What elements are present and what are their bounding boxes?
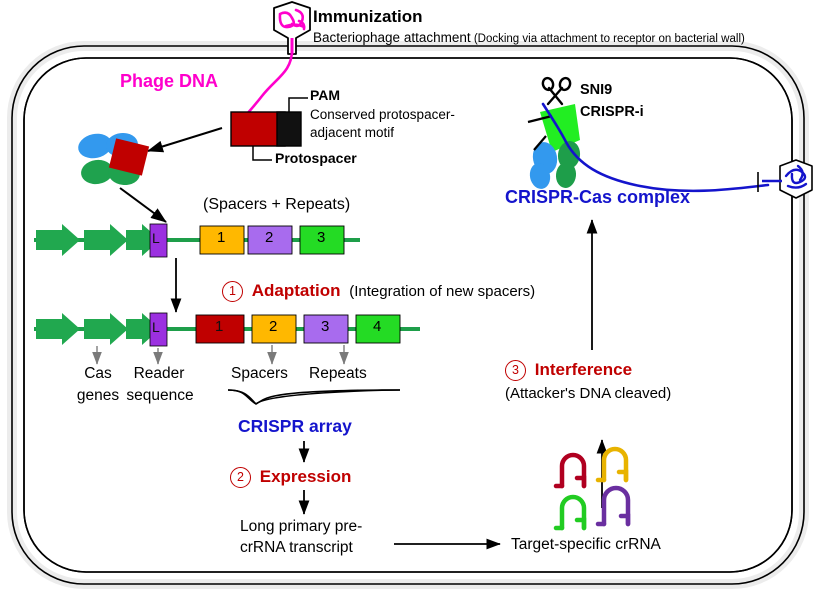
step-1-number: 1 <box>222 281 243 302</box>
step-2-name: Expression <box>260 467 352 486</box>
spacer-label-1-after: 1 <box>215 319 223 336</box>
phage-dna-label: Phage DNA <box>120 71 218 91</box>
crispr-array-after <box>34 313 420 346</box>
spacer-label-3-after: 3 <box>321 319 329 336</box>
arrow-to-cas-complex <box>148 128 222 151</box>
step-1: 1 Adaptation (Integration of new spacers… <box>222 281 535 302</box>
spacer-label-2-before: 2 <box>265 230 273 247</box>
arrow-to-crispr-array <box>120 188 166 222</box>
immunization-subtitle-main: Bacteriophage attachment <box>313 30 471 45</box>
crispr-i-label: CRISPR-i <box>580 104 644 120</box>
reader-label-line1: Reader <box>127 365 191 382</box>
crispr-array-label: CRISPR array <box>238 417 352 437</box>
step-2-number: 2 <box>230 467 251 488</box>
pre-crrna-line2: crRNA transcript <box>240 539 353 556</box>
sni9-label: SNI9 <box>580 82 612 98</box>
cas-genes-label-line1: Cas <box>72 365 124 382</box>
spacer-label-2-after: 2 <box>269 319 277 336</box>
diagram-canvas: Immunization Bacteriophage attachment (D… <box>0 0 816 596</box>
spacer-label-4-after: 4 <box>373 319 381 336</box>
scissors-icon <box>541 77 572 104</box>
immunization-subtitle: Bacteriophage attachment (Docking via at… <box>313 30 745 46</box>
pam-segment <box>277 112 301 146</box>
pre-crrna-line1: Long primary pre- <box>240 518 362 535</box>
crrna-hairpin-green <box>556 497 584 528</box>
immunization-subtitle-paren: (Docking via attachment to receptor on b… <box>474 33 745 45</box>
bacteriophage-icon-right <box>758 160 812 198</box>
spacer-label-1-before: 1 <box>217 230 225 247</box>
target-crrna-label: Target-specific crRNA <box>511 536 661 553</box>
spacers-label: Spacers <box>231 365 288 382</box>
step-1-detail: (Integration of new spacers) <box>349 283 535 300</box>
crrna-hairpins <box>556 449 628 528</box>
immunization-title: Immunization <box>313 7 423 26</box>
repeats-label: Repeats <box>309 365 367 382</box>
crispr-array-before <box>34 224 360 257</box>
array-callout-arrows <box>97 345 344 364</box>
crispr-cas-complex-label: CRISPR-Cas complex <box>505 187 690 207</box>
step-3-name: Interference <box>535 360 632 379</box>
bacterial-cell-wall <box>12 46 804 584</box>
crispr-cas9-complex-icon <box>528 77 582 191</box>
pam-leader-line <box>289 98 308 112</box>
leader-label-before: L <box>152 231 160 247</box>
cas-gene-arrows-after <box>36 313 160 345</box>
crrna-hairpin-red <box>556 455 584 486</box>
spacer-label-3-before: 3 <box>317 230 325 247</box>
protospacer-label: Protospacer <box>275 151 357 167</box>
protospacer-leader-line <box>253 146 272 160</box>
reader-label-line2: sequence <box>115 387 205 404</box>
spacers-repeats-label: (Spacers + Repeats) <box>203 196 350 214</box>
cas-protein-complex-icon <box>76 131 149 187</box>
leader-label-after: L <box>152 320 160 336</box>
pam-desc-line1: Conserved protospacer- <box>310 107 455 122</box>
step-2: 2 Expression <box>230 467 351 488</box>
step-3: 3 Interference <box>505 360 632 381</box>
step-1-name: Adaptation <box>252 281 341 300</box>
pam-desc-line2: adjacent motif <box>310 125 394 140</box>
cas-gene-arrows <box>36 224 160 256</box>
step-3-detail: (Attacker's DNA cleaved) <box>505 386 671 403</box>
pam-label: PAM <box>310 88 340 104</box>
step-3-number: 3 <box>505 360 526 381</box>
